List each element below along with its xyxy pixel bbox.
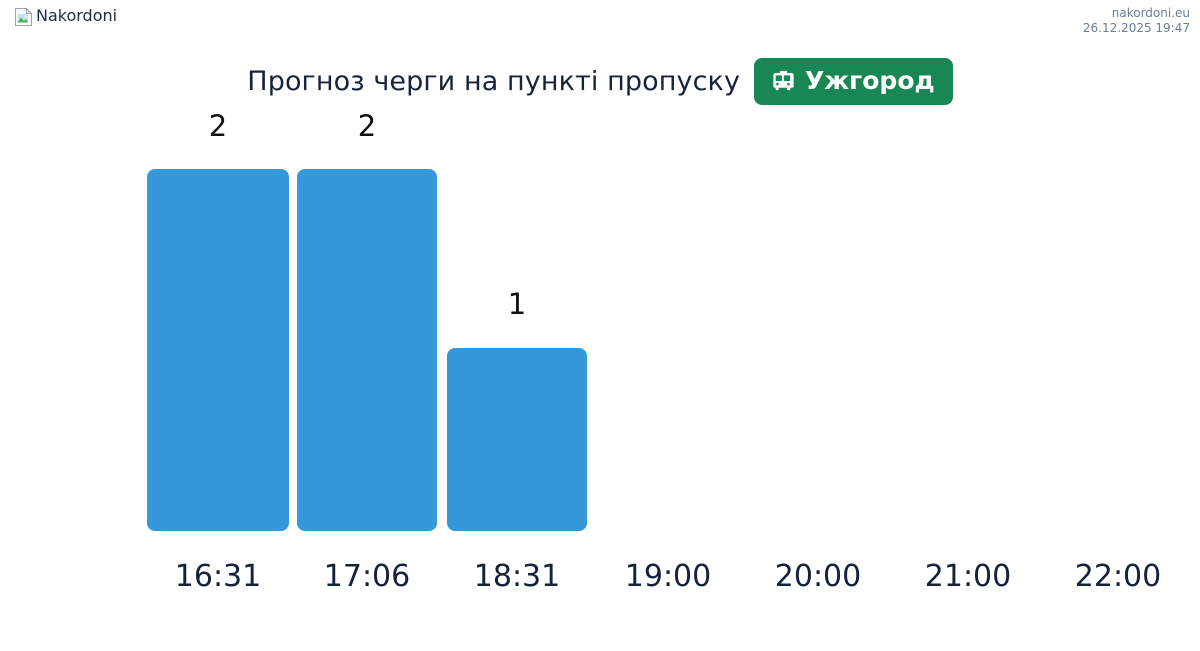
bar[interactable] [447, 348, 587, 531]
chart-column: 22:00 [1048, 100, 1188, 651]
chart-column: 1 18:31 [447, 100, 587, 651]
x-axis-tick-label: 18:31 [447, 559, 587, 595]
queue-forecast-chart: 2 16:31 2 17:06 1 18:31 19:00 20:00 21:0… [0, 0, 1200, 651]
chart-column: 21:00 [898, 100, 1038, 651]
bar-value-label: 1 [447, 288, 587, 320]
chart-column: 2 16:31 [147, 100, 289, 651]
bar[interactable] [297, 169, 437, 531]
chart-column: 20:00 [748, 100, 888, 651]
bar-value-label: 2 [297, 110, 437, 142]
x-axis-tick-label: 19:00 [598, 559, 738, 595]
x-axis-tick-label: 22:00 [1048, 559, 1188, 595]
chart-column: 19:00 [598, 100, 738, 651]
chart-column: 2 17:06 [297, 100, 437, 651]
bar-value-label: 2 [147, 110, 289, 142]
bar[interactable] [147, 169, 289, 531]
x-axis-tick-label: 21:00 [898, 559, 1038, 595]
x-axis-tick-label: 20:00 [748, 559, 888, 595]
x-axis-tick-label: 16:31 [147, 559, 289, 595]
x-axis-tick-label: 17:06 [297, 559, 437, 595]
